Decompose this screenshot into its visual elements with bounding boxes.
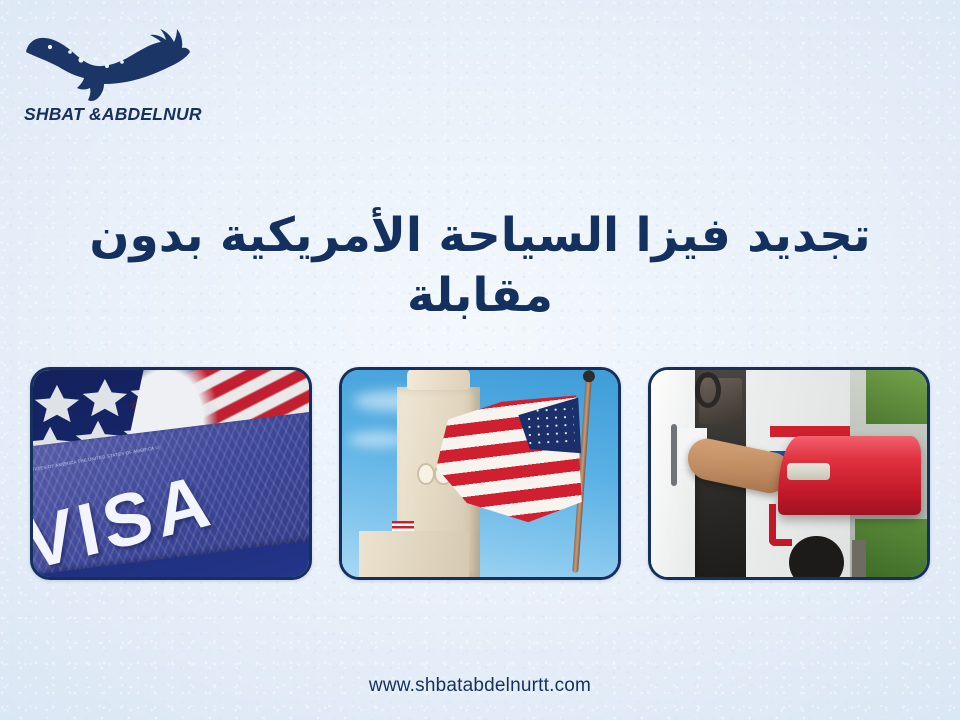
mailbox-flag-icon [769,504,792,546]
clock-tower-scene [342,370,618,577]
grass-patch-top [866,370,927,424]
card-mail-carrier-mailbox[interactable] [648,367,930,580]
clock-face-left [417,463,435,485]
website-url[interactable]: www.shbatabdelnurtt.com [0,675,960,697]
building-base [359,531,469,577]
card-clock-tower-flag[interactable] [339,367,621,580]
brand-logo[interactable]: SHBAT &ABDELNUR [18,16,218,125]
eagle-icon [18,16,190,102]
mailbox-latch [787,463,830,480]
poster-canvas: SHBAT &ABDELNUR تجديد فيزا السياحة الأمر… [0,0,960,720]
mail-delivery-scene [651,370,927,577]
small-flag-icon [392,521,414,531]
door-handle-icon [671,424,677,486]
mailbox-post [852,540,866,577]
truck-door [651,370,695,577]
visa-scene: UNITED STATES OF AMERICA THE UNITED STAT… [33,370,309,577]
image-card-row: UNITED STATES OF AMERICA THE UNITED STAT… [30,367,930,580]
page-title: تجديد فيزا السياحة الأمريكية بدون مقابلة [0,206,960,326]
card-us-visa-document[interactable]: UNITED STATES OF AMERICA THE UNITED STAT… [30,367,312,580]
brand-name: SHBAT &ABDELNUR [24,104,218,125]
steering-wheel-icon [695,372,721,408]
red-mailbox-icon [778,436,922,515]
